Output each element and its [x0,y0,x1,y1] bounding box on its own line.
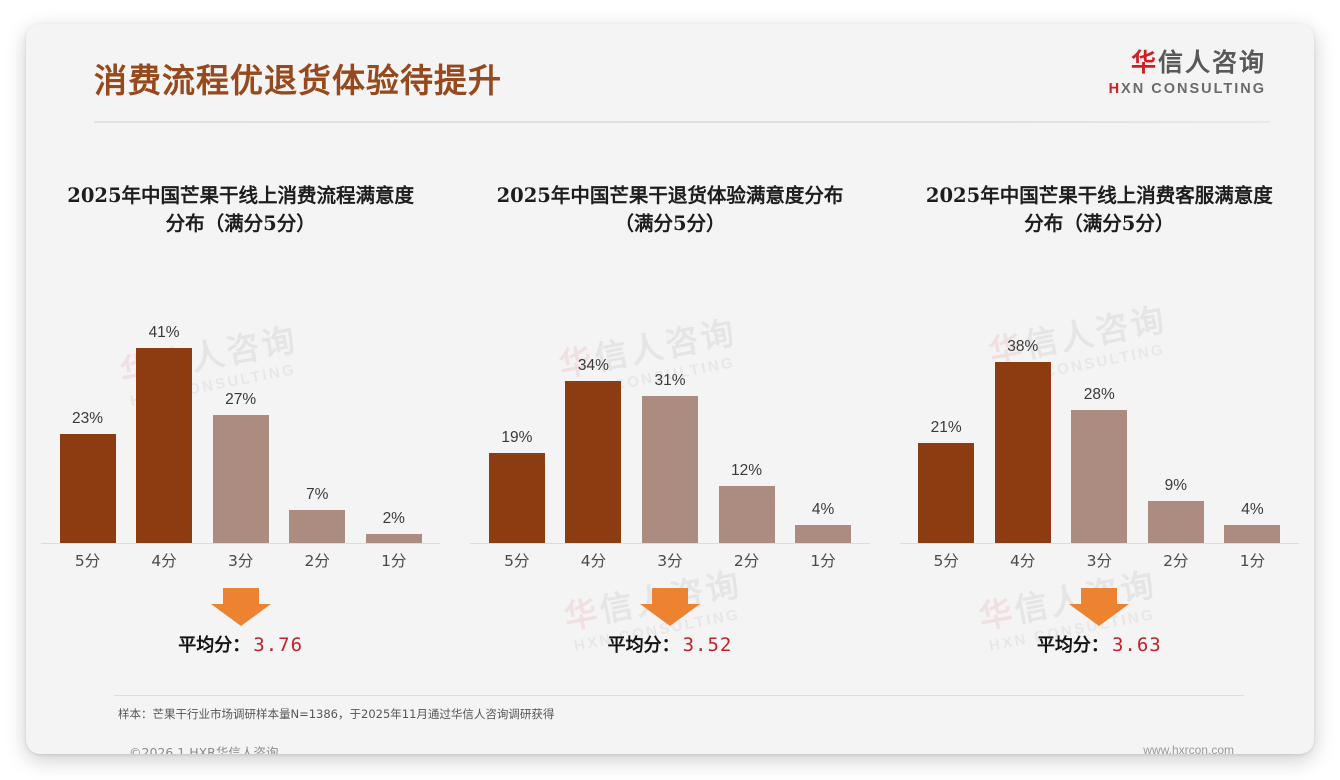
average-label: 平均分： [1037,635,1109,656]
logo-en-red: H [1109,81,1121,97]
bar-slot: 27% [207,289,274,544]
bar-group: 19% 34% 31% 12% [483,289,857,544]
bar-plot: 19% 34% 31% 12% [455,289,884,544]
x-tick-label: 2分 [713,549,780,571]
x-axis-line [41,543,440,544]
x-tick-label: 1分 [789,549,856,571]
bar-value-label: 34% [578,357,609,375]
bar[interactable] [795,525,851,544]
bar-slot: 9% [1142,289,1209,544]
bar[interactable] [642,396,698,544]
bar-value-label: 41% [149,324,180,342]
down-arrow-icon [209,586,273,633]
x-tick-label: 5分 [913,549,980,571]
header-divider [94,121,1270,123]
bar-value-label: 28% [1084,386,1115,404]
x-tick-label: 5分 [54,549,121,571]
x-tick-label: 1分 [1219,549,1286,571]
bar[interactable] [565,381,621,544]
bar[interactable] [719,486,775,544]
average-label: 平均分： [178,635,250,656]
chart-panel-1: 2025年中国芒果干线上消费流程满意度分布（满分5分） 华信人咨询 HXN CO… [26,134,455,679]
slide-card: 消费流程优退货体验待提升 华信人咨询 HXN CONSULTING 2025年中… [26,24,1314,754]
bar[interactable] [489,453,545,544]
company-logo: 华信人咨询 HXN CONSULTING [1109,50,1266,97]
average-score: 平均分：3.63 [885,631,1314,657]
bar-slot: 4% [789,289,856,544]
bar-value-label: 21% [931,419,962,437]
bar-value-label: 19% [501,429,532,447]
bar[interactable] [136,348,192,544]
average-label: 平均分： [608,635,680,656]
x-tick-label: 4分 [130,549,197,571]
footer-copyright: ©2026.1 HXR华信人咨询 [129,742,278,754]
bar-slot: 2% [360,289,427,544]
bar-slot: 7% [284,289,351,544]
average-value: 3.76 [253,634,303,656]
x-axis-labels: 5分 4分 3分 2分 1分 [913,549,1287,571]
chart-panel-2: 2025年中国芒果干退货体验满意度分布（满分5分） 华信人咨询 HXN CONS… [455,134,884,679]
bar-slot: 19% [483,289,550,544]
average-score: 平均分：3.52 [455,631,884,657]
chart-title: 2025年中国芒果干退货体验满意度分布（满分5分） [490,182,851,239]
x-tick-label: 4分 [989,549,1056,571]
chart-title: 2025年中国芒果干线上消费客服满意度分布（满分5分） [919,182,1280,239]
bar-slot: 34% [560,289,627,544]
bar-group: 23% 41% 27% 7% [54,289,428,544]
footnote-text: 样本：芒果干行业市场调研样本量N=1386，于2025年11月通过华信人咨询调研… [118,706,554,722]
bar[interactable] [1224,525,1280,544]
chart-title: 2025年中国芒果干线上消费流程满意度分布（满分5分） [60,182,421,239]
x-tick-label: 5分 [483,549,550,571]
bar[interactable] [918,443,974,544]
down-arrow-icon [1067,586,1131,633]
bar-value-label: 12% [731,462,762,480]
bar[interactable] [1071,410,1127,544]
bar-value-label: 31% [654,372,685,390]
x-tick-label: 4分 [560,549,627,571]
bar-value-label: 23% [72,410,103,428]
bar-slot: 23% [54,289,121,544]
x-axis-labels: 5分 4分 3分 2分 1分 [483,549,857,571]
bar-slot: 12% [713,289,780,544]
bar-slot: 31% [636,289,703,544]
slide-header: 消费流程优退货体验待提升 华信人咨询 HXN CONSULTING [26,24,1314,124]
bar-value-label: 4% [1241,501,1263,519]
x-tick-label: 3分 [207,549,274,571]
bar[interactable] [60,434,116,544]
bar-slot: 28% [1066,289,1133,544]
down-arrow-icon [638,586,702,633]
x-axis-line [470,543,869,544]
bar-slot: 21% [913,289,980,544]
x-axis-labels: 5分 4分 3分 2分 1分 [54,549,428,571]
bar-slot: 4% [1219,289,1286,544]
page-title: 消费流程优退货体验待提升 [94,54,502,102]
logo-en-gray: XN CONSULTING [1121,81,1266,97]
logo-chinese-text: 华信人咨询 [1109,50,1266,75]
bar-slot: 38% [989,289,1056,544]
bar[interactable] [995,362,1051,544]
x-axis-line [900,543,1299,544]
bar[interactable] [289,510,345,544]
x-tick-label: 2分 [284,549,351,571]
x-tick-label: 3分 [1066,549,1133,571]
bar-plot: 21% 38% 28% 9% [885,289,1314,544]
bar-value-label: 9% [1165,477,1187,495]
average-score: 平均分：3.76 [26,631,455,657]
average-value: 3.52 [683,634,733,656]
charts-container: 2025年中国芒果干线上消费流程满意度分布（满分5分） 华信人咨询 HXN CO… [26,134,1314,679]
chart-panel-3: 2025年中国芒果干线上消费客服满意度分布（满分5分） 华信人咨询 HXN CO… [885,134,1314,679]
footnote-divider [114,695,1244,696]
bar-value-label: 27% [225,391,256,409]
x-tick-label: 3分 [636,549,703,571]
footer-website[interactable]: www.hxrcon.com [1143,743,1234,754]
bar[interactable] [213,415,269,544]
x-tick-label: 1分 [360,549,427,571]
bar[interactable] [1148,501,1204,544]
bar-value-label: 4% [812,501,834,519]
bar-value-label: 2% [383,510,405,528]
bar-slot: 41% [130,289,197,544]
logo-cn-red: 华 [1131,48,1158,77]
bar-group: 21% 38% 28% 9% [913,289,1287,544]
bar-value-label: 38% [1007,338,1038,356]
x-tick-label: 2分 [1142,549,1209,571]
bar-value-label: 7% [306,486,328,504]
logo-english-text: HXN CONSULTING [1109,82,1266,97]
average-value: 3.63 [1112,634,1162,656]
logo-cn-gray: 信人咨询 [1158,48,1266,77]
bar-plot: 23% 41% 27% 7% [26,289,455,544]
